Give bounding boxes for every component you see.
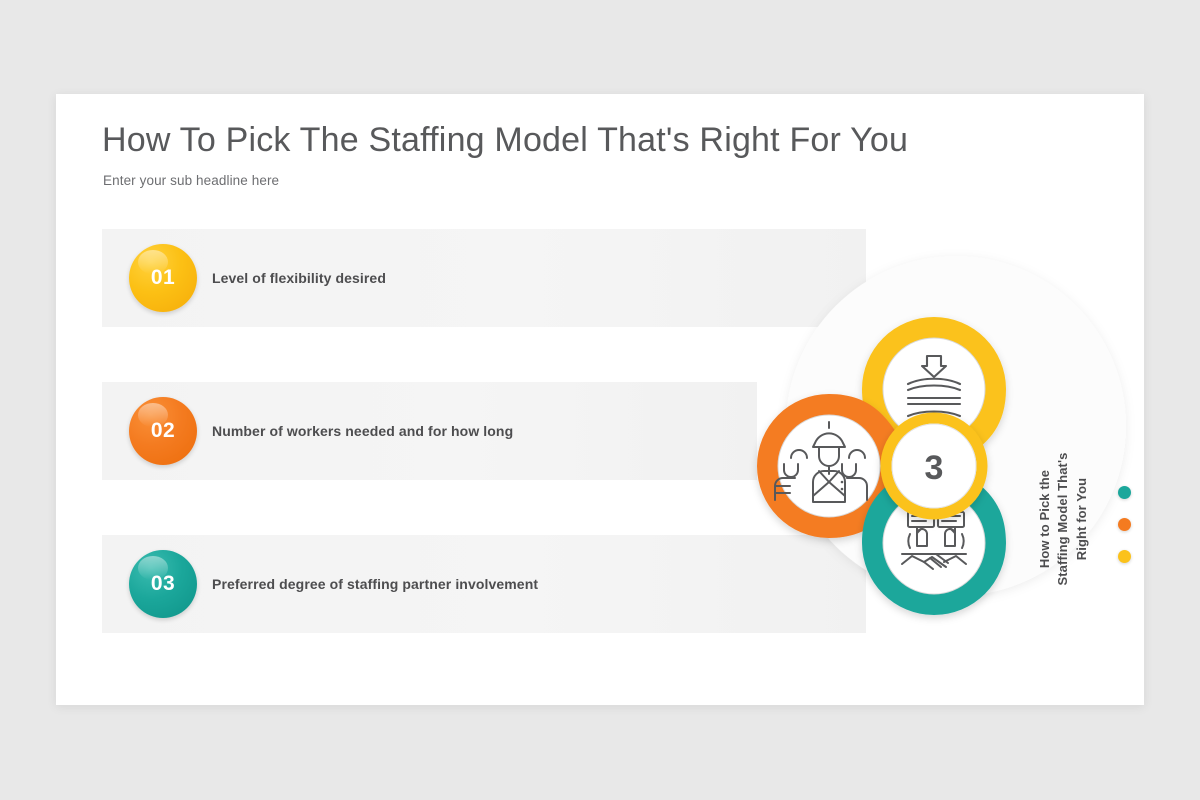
row-number-badge: 02 bbox=[129, 397, 197, 465]
diagram-hub[interactable]: 3 bbox=[886, 418, 982, 514]
slide-stage: How To Pick The Staffing Model That's Ri… bbox=[0, 0, 1200, 800]
row-label: Preferred degree of staffing partner inv… bbox=[212, 535, 538, 633]
legend-dot-teal bbox=[1118, 486, 1131, 499]
row-label: Level of flexibility desired bbox=[212, 229, 386, 327]
row-label: Number of workers needed and for how lon… bbox=[212, 382, 513, 480]
caption-line-3: Right for You bbox=[1074, 478, 1089, 560]
caption-line-2: Staffing Model That's bbox=[1055, 452, 1070, 585]
diagram-caption: How to Pick the Staffing Model That's Ri… bbox=[1036, 424, 1108, 614]
row-number-badge: 01 bbox=[129, 244, 197, 312]
caption-line-1: How to Pick the bbox=[1037, 470, 1052, 568]
slide-card: How To Pick The Staffing Model That's Ri… bbox=[56, 94, 1144, 705]
page-title: How To Pick The Staffing Model That's Ri… bbox=[102, 121, 908, 160]
hub-number: 3 bbox=[925, 449, 944, 487]
diagram-caption-block: How to Pick the Staffing Model That's Ri… bbox=[1036, 424, 1108, 614]
info-row[interactable]: 02 Number of workers needed and for how … bbox=[102, 382, 757, 480]
page-subtitle: Enter your sub headline here bbox=[103, 173, 279, 188]
legend-dot-yellow bbox=[1118, 550, 1131, 563]
legend-dot-orange bbox=[1118, 518, 1131, 531]
row-number-badge: 03 bbox=[129, 550, 197, 618]
legend-dot-list bbox=[1118, 486, 1131, 563]
